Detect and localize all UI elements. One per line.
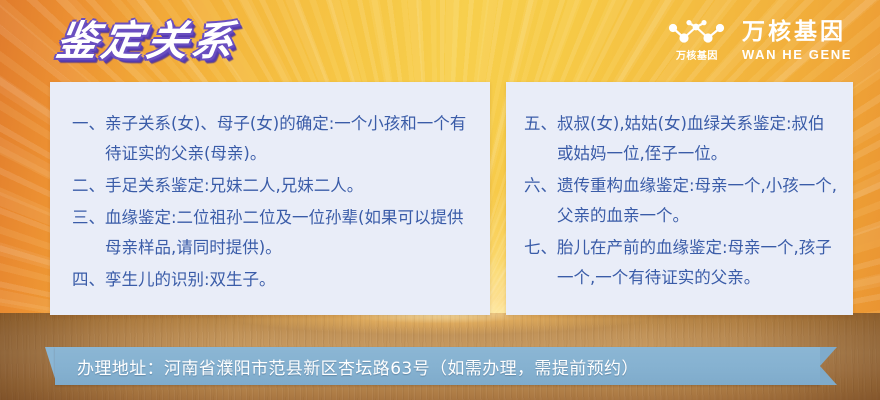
brand-mark-caption: 万核基因 — [676, 51, 718, 62]
address-text: 办理地址：河南省濮阳市范县新区杏坛路63号（如需办理，需提前预约） — [77, 347, 639, 385]
list-item-text: 孪生儿的识别:双生子。 — [105, 265, 470, 295]
poster-root: 鉴定关系 — [0, 0, 880, 400]
relationship-list-right: 五、 叔叔(女),姑姑(女)血绿关系鉴定:叔伯或姑妈一位,侄子一位。 六、 遗传… — [506, 82, 853, 293]
list-item: 七、 胎儿在产前的血缘鉴定:母亲一个,孩子一个,一个有待证实的父亲。 — [524, 233, 839, 293]
brand-mark: 万核基因 — [664, 18, 730, 62]
list-item-text: 遗传重构血缘鉴定:母亲一个,小孩一个,父亲的血亲一个。 — [557, 171, 839, 231]
list-item-number: 三、 — [72, 203, 105, 233]
list-item-text: 亲子关系(女)、母子(女)的确定:一个小孩和一个有待证实的父亲(母亲)。 — [105, 109, 470, 169]
list-item-number: 七、 — [524, 233, 557, 263]
header: 鉴定关系 — [0, 0, 880, 82]
page-title: 鉴定关系 — [53, 17, 241, 65]
list-item: 六、 遗传重构血缘鉴定:母亲一个,小孩一个,父亲的血亲一个。 — [524, 171, 839, 231]
brand-wordmark: 万核基因 WAN HE GENE — [742, 19, 852, 62]
brand-name-cn: 万核基因 — [742, 19, 852, 45]
list-item: 二、 手足关系鉴定:兄妹二人,兄妹二人。 — [72, 171, 470, 201]
list-item: 四、 孪生儿的识别:双生子。 — [72, 265, 470, 295]
list-item-text: 血缘鉴定:二位祖孙二位及一位孙辈(如果可以提供母亲样品,请同时提供)。 — [105, 203, 470, 263]
dna-molecule-icon — [667, 18, 727, 48]
address-banner-arrow-tip — [820, 347, 837, 385]
list-item: 五、 叔叔(女),姑姑(女)血绿关系鉴定:叔伯或姑妈一位,侄子一位。 — [524, 109, 839, 169]
panel-left: 一、 亲子关系(女)、母子(女)的确定:一个小孩和一个有待证实的父亲(母亲)。 … — [50, 82, 490, 315]
panel-right: 五、 叔叔(女),姑姑(女)血绿关系鉴定:叔伯或姑妈一位,侄子一位。 六、 遗传… — [506, 82, 853, 315]
list-item-text: 手足关系鉴定:兄妹二人,兄妹二人。 — [105, 171, 470, 201]
brand-name-en: WAN HE GENE — [742, 47, 852, 62]
list-item: 一、 亲子关系(女)、母子(女)的确定:一个小孩和一个有待证实的父亲(母亲)。 — [72, 109, 470, 169]
relationship-list-left: 一、 亲子关系(女)、母子(女)的确定:一个小孩和一个有待证实的父亲(母亲)。 … — [50, 82, 490, 295]
list-item-number: 二、 — [72, 171, 105, 201]
list-item-text: 叔叔(女),姑姑(女)血绿关系鉴定:叔伯或姑妈一位,侄子一位。 — [557, 109, 839, 169]
address-banner: 办理地址：河南省濮阳市范县新区杏坛路63号（如需办理，需提前预约） — [45, 347, 845, 385]
brand-logo: 万核基因 万核基因 WAN HE GENE — [664, 18, 852, 62]
list-item-number: 一、 — [72, 109, 105, 139]
list-item-text: 胎儿在产前的血缘鉴定:母亲一个,孩子一个,一个有待证实的父亲。 — [557, 233, 839, 293]
list-item: 三、 血缘鉴定:二位祖孙二位及一位孙辈(如果可以提供母亲样品,请同时提供)。 — [72, 203, 470, 263]
list-item-number: 五、 — [524, 109, 557, 139]
list-item-number: 六、 — [524, 171, 557, 201]
list-item-number: 四、 — [72, 265, 105, 295]
